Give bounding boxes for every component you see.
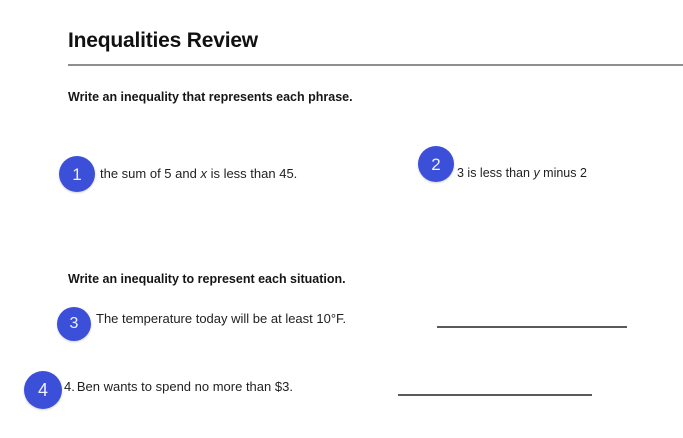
question-1-phrase-after: is less than 45. bbox=[207, 166, 297, 181]
question-badge-3[interactable]: 3 bbox=[57, 307, 91, 341]
question-3-phrase: The temperature today will be at least 1… bbox=[96, 311, 346, 326]
title-divider bbox=[68, 64, 683, 66]
answer-blank-4[interactable] bbox=[398, 394, 592, 396]
answer-blank-3[interactable] bbox=[437, 326, 627, 328]
question-2-phrase-after: minus 2 bbox=[540, 166, 587, 180]
question-text-3: The temperature today will be at least 1… bbox=[96, 311, 346, 327]
page-title: Inequalities Review bbox=[68, 29, 258, 53]
section-heading-situations: Write an inequality to represent each si… bbox=[68, 272, 346, 286]
worksheet-page: Inequalities Review Write an inequality … bbox=[0, 0, 683, 438]
question-badge-1[interactable]: 1 bbox=[59, 156, 95, 192]
question-text-1: the sum of 5 and x is less than 45. bbox=[100, 166, 297, 182]
question-badge-2[interactable]: 2 bbox=[418, 146, 454, 182]
question-text-4: 4.Ben wants to spend no more than $3. bbox=[64, 379, 293, 395]
question-text-2: 3 is less than y minus 2 bbox=[457, 166, 587, 181]
question-4-inline-number: 4. bbox=[64, 379, 75, 395]
question-badge-4[interactable]: 4 bbox=[24, 371, 62, 409]
question-2-phrase-before: 3 is less than bbox=[457, 166, 533, 180]
question-1-phrase-before: the sum of 5 and bbox=[100, 166, 200, 181]
question-4-phrase: Ben wants to spend no more than $3. bbox=[77, 379, 293, 394]
section-heading-phrases: Write an inequality that represents each… bbox=[68, 90, 353, 104]
